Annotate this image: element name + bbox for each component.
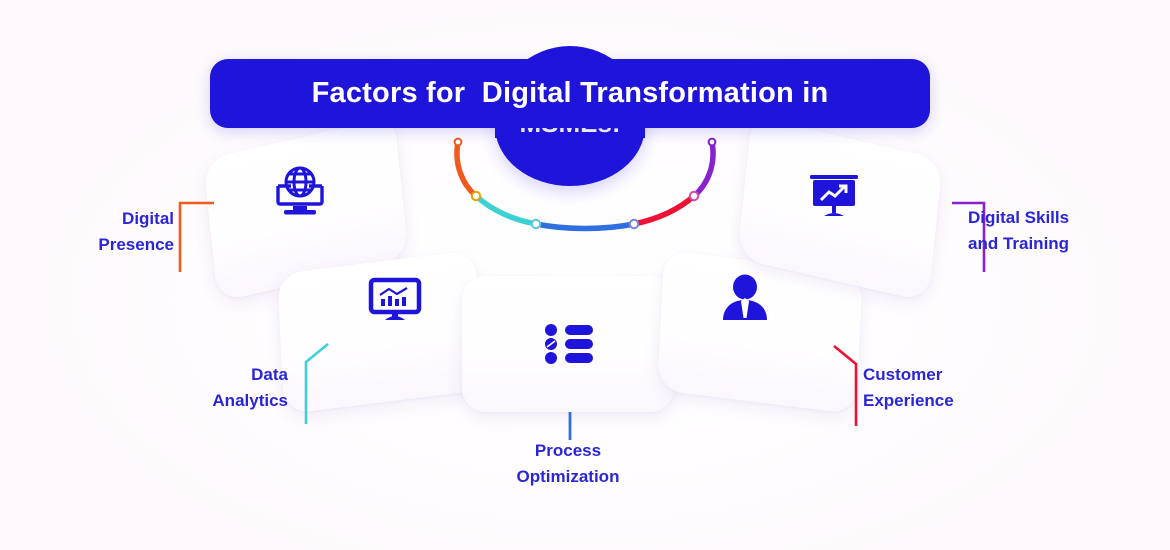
page-title: Factors for Digital Transformation in [312, 77, 829, 110]
label-line-1: Customer [863, 362, 1043, 388]
arc-node-red-purple [690, 192, 698, 200]
arc-blue-segment [536, 224, 634, 229]
label-digital-presence: Digital Presence [44, 206, 174, 259]
arc-orange-segment [457, 142, 476, 196]
arc-node-blue-red [630, 220, 638, 228]
label-line-1: Digital Skills [968, 205, 1158, 231]
label-line-1: Digital [44, 206, 174, 232]
globe-monitor-icon [268, 163, 332, 221]
label-customer-experience: Customer Experience [863, 362, 1043, 415]
label-digital-skills-and-training: Digital Skills and Training [968, 205, 1158, 258]
label-data-analytics: Data Analytics [148, 362, 288, 415]
connector-data-analytics [288, 338, 336, 433]
label-line-2: Presence [44, 232, 174, 258]
arc-node-orange [455, 139, 462, 146]
label-line-2: Analytics [148, 388, 288, 414]
label-line-2: Optimization [470, 464, 666, 490]
label-line-1: Data [148, 362, 288, 388]
arc-node-orange-cyan [472, 192, 480, 200]
label-process-optimization: Process Optimization [470, 438, 666, 491]
label-line-1: Process [470, 438, 666, 464]
chart-monitor-icon [363, 272, 427, 330]
label-line-2: Experience [863, 388, 1043, 414]
arc-node-cyan-blue [532, 220, 540, 228]
bulleted-list-icon [537, 315, 601, 373]
arc-red-segment [634, 196, 694, 224]
title-bar: Factors for Digital Transformation in [210, 59, 930, 128]
arc-node-purple [709, 139, 716, 146]
infographic-canvas: Factors for Digital Transformation in MS… [0, 0, 1170, 550]
presentation-growth-icon [802, 166, 866, 224]
label-line-2: and Training [968, 231, 1158, 257]
businessperson-icon [713, 270, 777, 328]
arc-cyan-segment [476, 196, 536, 224]
connector-digital-presence [170, 198, 220, 283]
arc-purple-segment [694, 142, 713, 196]
